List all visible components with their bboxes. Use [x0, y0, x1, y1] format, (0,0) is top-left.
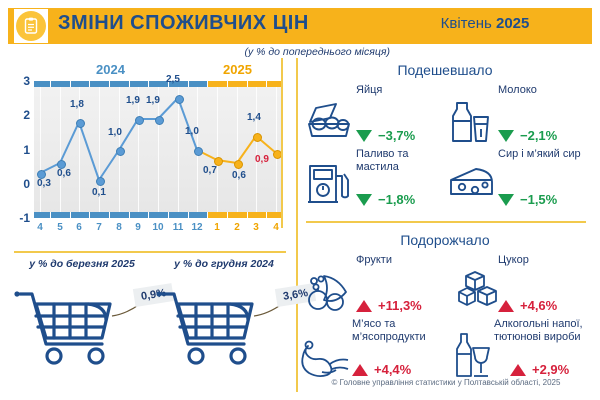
cheaper-item-value-row: −1,8%: [356, 192, 415, 207]
triangle-up-icon: [498, 300, 514, 312]
shopping-cart-icon: [14, 282, 126, 368]
cheese-icon: [448, 166, 496, 209]
logo-badge: [14, 9, 48, 43]
chart-x-tick: 4: [31, 222, 49, 233]
meat-icon: [300, 338, 352, 383]
chart-point-label: 0,7: [203, 165, 217, 176]
cart-caption: у % до березня 2025: [12, 258, 152, 270]
triangle-down-icon: [356, 130, 372, 142]
triangle-up-icon: [352, 364, 368, 376]
chart-x-tick: 10: [149, 222, 167, 233]
shopping-cart-icon: [156, 282, 268, 368]
cheaper-item-fuel: Паливо та мастила −1,8%: [304, 148, 447, 226]
chart-x-tick: 9: [129, 222, 147, 233]
chart-point-label: 1,9: [126, 95, 140, 106]
pricier-item-value-row: +2,9%: [510, 362, 569, 377]
triangle-down-icon: [356, 194, 372, 206]
chart-y-tick: 0: [14, 177, 30, 191]
cheaper-item-label: Молоко: [498, 84, 588, 97]
chart-point-label: 0,6: [57, 168, 71, 179]
cart-block-march: у % до березня 2025 0,9%: [12, 258, 152, 270]
cart-block-december: у % до грудня 2024 3,6%: [154, 258, 294, 270]
chart-point-label: 1,4: [247, 112, 261, 123]
cheaper-item-value-row: −2,1%: [498, 128, 557, 143]
cheaper-item-value-row: −3,7%: [356, 128, 415, 143]
chart-point-label: 1,9: [146, 95, 160, 106]
pricier-item-value: +4,4%: [374, 362, 411, 377]
cheaper-item-value: −1,8%: [378, 192, 415, 207]
chart-line-segment: [60, 122, 79, 163]
pricier-item-value-row: +4,4%: [352, 362, 411, 377]
chart-point-label: 1,0: [108, 127, 122, 138]
clipboard-icon: [16, 11, 46, 41]
chart-line-segment: [99, 150, 119, 180]
chart-y-tick: -1: [14, 211, 30, 225]
triangle-down-icon: [498, 194, 514, 206]
pricier-item-value: +11,3%: [378, 298, 422, 313]
sugar-cubes-icon: [456, 270, 500, 317]
cart-comparisons: у % до березня 2025 0,9% у % до грудня 2…: [8, 258, 292, 392]
pricier-item-value: +4,6%: [520, 298, 557, 313]
pricier-item-label: Фрукти: [356, 254, 446, 267]
chart-point-label: 1,8: [70, 99, 84, 110]
chart-x-tick: 12: [188, 222, 206, 233]
fruits-icon: [306, 270, 354, 319]
cart-caption: у % до грудня 2024: [154, 258, 294, 270]
fuel-pump-icon: [306, 158, 352, 211]
chart-y-tick: 3: [14, 74, 30, 88]
chart-y-tick: 1: [14, 143, 30, 157]
chart-x-tick: 11: [169, 222, 187, 233]
line-chart: 2024 2025 3210-1 4567891011121234 0,30,6…: [8, 60, 292, 245]
pricier-panel-title: Подорожчало: [302, 232, 588, 248]
chart-data-point: [194, 147, 203, 156]
cheaper-item-value: −3,7%: [378, 128, 415, 143]
chart-data-point: [155, 116, 164, 125]
chart-data-point: [175, 95, 184, 104]
milk-bottle-icon: [448, 100, 494, 151]
cheaper-item-label: Сир і м’який сир: [498, 148, 588, 161]
cheaper-item-value-row: −1,5%: [498, 192, 557, 207]
chart-point-label: 0,6: [232, 170, 246, 181]
chart-x-tick: 8: [110, 222, 128, 233]
cheaper-item-label: Паливо та мастила: [356, 148, 446, 174]
chart-y-tick: 2: [14, 108, 30, 122]
pricier-item-value-row: +4,6%: [498, 298, 557, 313]
cheaper-panel-title: Подешевшало: [302, 62, 588, 78]
pricier-item-label: М’ясо та м’ясопродукти: [352, 318, 447, 344]
chart-data-point: [116, 147, 125, 156]
chart-x-tick: 7: [90, 222, 108, 233]
chart-data-point: [234, 160, 243, 169]
chart-x-tick: 2: [228, 222, 246, 233]
infographic-page: ЗМІНИ СПОЖИВЧИХ ЦІН Квітень 2025 (у % до…: [0, 0, 600, 400]
cheaper-item-value: −1,5%: [520, 192, 557, 207]
chart-line-segment: [79, 122, 99, 180]
chart-x-tick: 3: [247, 222, 265, 233]
chart-point-label: 2,5: [166, 74, 180, 85]
chart-point-label: 0,1: [92, 187, 106, 198]
header-period: Квітень 2025: [390, 15, 580, 32]
chart-data-point: [135, 116, 144, 125]
chart-point-label: 0,9: [255, 154, 269, 165]
header-month-label: Квітень: [441, 15, 492, 32]
chart-year-2025: 2025: [223, 62, 252, 77]
chart-x-tick: 5: [51, 222, 69, 233]
chart-x-tick: 1: [208, 222, 226, 233]
chart-point-label: 0,3: [37, 178, 51, 189]
footer-copyright: © Головне управління статистики у Полтав…: [300, 378, 592, 387]
chart-point-label: 1,0: [185, 126, 199, 137]
left-horizontal-divider: [14, 251, 286, 253]
page-title: ЗМІНИ СПОЖИВЧИХ ЦІН: [58, 12, 309, 35]
triangle-up-icon: [510, 364, 526, 376]
chart-subtitle: (у % до попереднього місяця): [0, 46, 390, 58]
vertical-divider: [296, 58, 298, 392]
pricier-item-value: +2,9%: [532, 362, 569, 377]
chart-data-point: [253, 133, 262, 142]
chart-data-point: [96, 177, 105, 186]
triangle-down-icon: [498, 130, 514, 142]
chart-data-point: [76, 119, 85, 128]
triangle-up-icon: [356, 300, 372, 312]
chart-right-edge-line: [281, 58, 283, 228]
header-year-label: 2025: [496, 15, 529, 32]
chart-x-tick: 6: [70, 222, 88, 233]
chart-year-2024: 2024: [96, 62, 125, 77]
cheaper-item-value: −2,1%: [520, 128, 557, 143]
pricier-item-label: Алкогольні напої, тютюнові вироби: [494, 318, 598, 344]
pricier-item-value-row: +11,3%: [356, 298, 422, 313]
cheaper-item-cheese: Сир і м’який сир −1,5%: [446, 148, 589, 226]
pricier-item-label: Цукор: [498, 254, 588, 267]
eggs-icon: [306, 100, 352, 147]
chart-line-segment: [178, 98, 197, 150]
cheaper-item-label: Яйця: [356, 84, 446, 97]
